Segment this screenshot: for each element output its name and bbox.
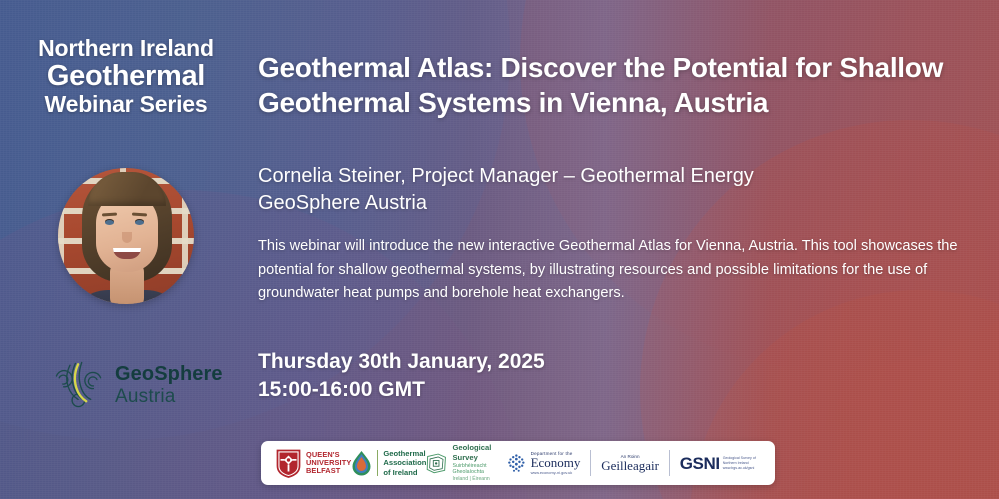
portrait-eye-left — [105, 220, 114, 225]
queens-line3: BELFAST — [306, 467, 351, 475]
partner-logo-gsni: GSNI Geological Survey of Northern Irela… — [680, 455, 760, 472]
series-title-line2: Geothermal — [0, 61, 252, 92]
partner-logo-geothermal-association-of-ireland: Geothermal Association of Ireland — [351, 449, 426, 477]
gai-line3: of Ireland — [383, 468, 426, 477]
gsni-url: www.bgs.ac.uk/gsni — [723, 466, 760, 470]
partner-logo-geological-survey-ireland: Geological Survey Suirbhéireacht Gheolaí… — [426, 443, 506, 482]
partner-logo-bar: QUEEN'S UNIVERSITY BELFAST Geothermal As… — [261, 441, 775, 485]
geosphere-austria-logo: GeoSphere Austria — [52, 358, 223, 412]
geosphere-wordmark: GeoSphere Austria — [115, 364, 223, 406]
partner-logo-queens-university-belfast: QUEEN'S UNIVERSITY BELFAST — [276, 449, 351, 478]
webinar-banner: Northern Ireland Geothermal Webinar Seri… — [0, 0, 999, 499]
schedule-date: Thursday 30th January, 2025 — [258, 348, 758, 376]
dfe-divider-1 — [590, 450, 591, 476]
portrait-eye-right — [135, 220, 144, 225]
gsni-wordmark: GSNI — [680, 455, 720, 472]
partner-logo-department-for-the-economy: Department for the Economy www.economy-n… — [507, 450, 760, 476]
dfe-line2: Economy — [531, 456, 581, 470]
an-roinn-line2: Geilleagair — [601, 459, 659, 473]
queens-crest-icon — [276, 449, 301, 478]
series-title-line1: Northern Ireland — [0, 36, 252, 61]
gsi-line3: Ireland | Éireann — [452, 476, 506, 482]
schedule-time: 15:00-16:00 GMT — [258, 376, 758, 404]
gai-line1: Geothermal — [383, 449, 426, 458]
page-title: Geothermal Atlas: Discover the Potential… — [258, 50, 970, 121]
geosphere-subname: Austria — [115, 387, 223, 406]
gsni-line2: Geological Survey of Northern Ireland — [723, 456, 760, 465]
gai-divider — [377, 450, 378, 476]
speaker-organisation: GeoSphere Austria — [258, 190, 970, 217]
gai-line2: Association — [383, 458, 426, 467]
abstract-text: This webinar will introduce the new inte… — [258, 235, 960, 306]
dfe-divider-2 — [669, 450, 670, 476]
portrait-nose — [122, 232, 132, 243]
dfe-url: www.economy-ni.gov.uk — [531, 471, 581, 475]
geosphere-name: GeoSphere — [115, 364, 223, 384]
gsi-line2: Suirbhéireacht Gheolaíochta — [452, 463, 506, 476]
queens-wordmark: QUEEN'S UNIVERSITY BELFAST — [306, 451, 351, 476]
series-title-line3: Webinar Series — [0, 92, 252, 117]
schedule-block: Thursday 30th January, 2025 15:00-16:00 … — [258, 348, 758, 404]
gsi-wordmark: Geological Survey Suirbhéireacht Gheolaí… — [452, 443, 506, 482]
speaker-block: Cornelia Steiner, Project Manager – Geot… — [258, 163, 970, 217]
speaker-name-role: Cornelia Steiner, Project Manager – Geot… — [258, 163, 970, 190]
gai-flame-icon — [351, 450, 372, 476]
dfe-dots-icon — [507, 451, 526, 475]
gsi-line1: Geological Survey — [452, 443, 506, 461]
an-roinn-geilleagair-wordmark: An Roinn Geilleagair — [601, 454, 659, 473]
gai-wordmark: Geothermal Association of Ireland — [383, 449, 426, 477]
speaker-portrait — [58, 168, 194, 304]
gsi-cube-icon — [426, 450, 447, 476]
dfe-wordmark: Department for the Economy www.economy-n… — [531, 451, 581, 475]
series-title: Northern Ireland Geothermal Webinar Seri… — [0, 36, 252, 116]
gsni-subtext: Geological Survey of Northern Ireland ww… — [723, 456, 760, 470]
geosphere-contour-icon — [52, 358, 106, 412]
